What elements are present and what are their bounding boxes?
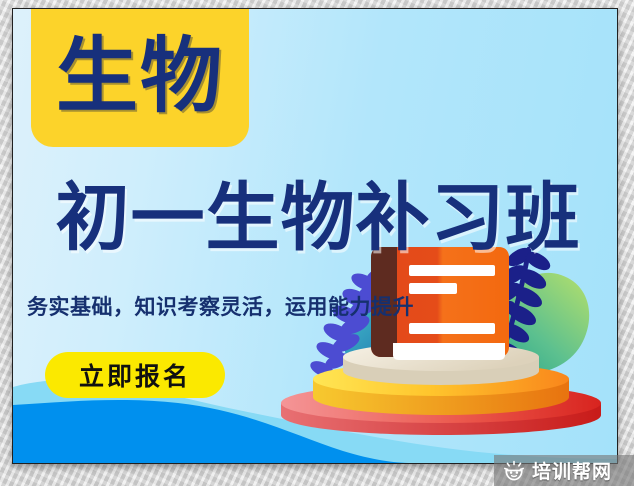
book-stripe-3 [409, 323, 495, 334]
book-stripe-1 [409, 265, 495, 276]
enroll-now-button-label: 立即报名 [79, 357, 191, 393]
watermark-label: 培训帮网 [532, 457, 612, 484]
poster-canvas: 生物 初一生物补习班 务实基础，知识考察灵活，运用能力提升 立即报名 [12, 8, 618, 464]
enroll-now-button[interactable]: 立即报名 [45, 352, 225, 398]
book-stripe-2 [409, 283, 457, 294]
page-title: 初一生物补习班 [23, 181, 613, 255]
sun-face-icon [503, 460, 525, 482]
watermark: 培训帮网 [494, 455, 634, 486]
subject-badge: 生物 [31, 8, 249, 147]
subtitle-text: 务实基础，知识考察灵活，运用能力提升 [27, 295, 414, 320]
book-pages [393, 343, 505, 360]
subject-badge-label: 生物 [56, 36, 224, 118]
